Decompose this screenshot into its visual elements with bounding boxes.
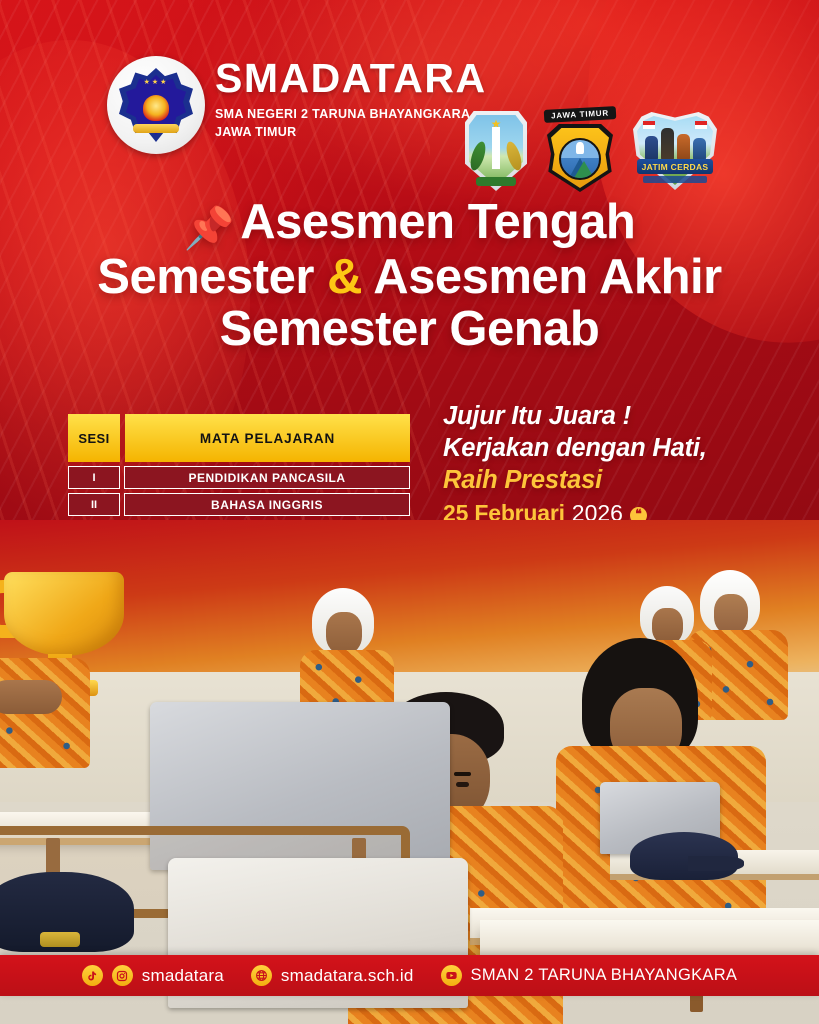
classroom-exam-photo [0, 520, 819, 1024]
youtube-channel-name[interactable]: SMAN 2 TARUNA BHAYANGKARA [471, 966, 738, 985]
column-header-mata-pelajaran: MATA PELAJARAN [125, 414, 410, 462]
cap-brim [688, 856, 744, 871]
motivation-block: Jujur Itu Juara ! Kerjakan dengan Hati, … [443, 400, 793, 527]
motivation-line-1: Jujur Itu Juara ! [443, 400, 793, 432]
row-sesi-value: I [68, 466, 120, 489]
column-header-sesi: SESI [68, 414, 120, 462]
title-line-3: Semester Genab [0, 303, 819, 355]
east-java-province-emblem: ★ [465, 111, 527, 191]
poster-title: 📌Asesmen Tengah Semester & Asesmen Akhir… [0, 196, 819, 356]
desk-bottom-right [480, 920, 819, 956]
website-url[interactable]: smadatara.sch.id [281, 966, 414, 986]
instagram-icon[interactable] [112, 965, 133, 986]
poster-canvas: ★★★ SMADATARA SMA NEGERI 2 TARUNA BHAYAN… [0, 0, 819, 1024]
title-line-2b: Asesmen Akhir [373, 250, 721, 304]
row-mapel-value: BAHASA INGGRIS [124, 493, 410, 516]
police-banner-label: JAWA TIMUR [544, 106, 617, 123]
brand-name: SMADATARA [215, 58, 487, 99]
title-line-1: Asesmen Tengah [240, 195, 635, 249]
brand-block: SMADATARA SMA NEGERI 2 TARUNA BHAYANGKAR… [215, 58, 487, 142]
schedule-table: SESI MATA PELAJARAN I PENDIDIKAN PANCASI… [68, 414, 410, 516]
row-mapel-value: PENDIDIKAN PANCASILA [124, 466, 410, 489]
youtube-icon[interactable] [441, 965, 462, 986]
jatim-cerdas-badge: JATIM CERDAS [633, 112, 717, 190]
brand-subtitle-line2: JAWA TIMUR [215, 124, 487, 142]
brand-subtitle-line1: SMA NEGERI 2 TARUNA BHAYANGKARA [215, 106, 487, 124]
motivation-line-2: Kerjakan dengan Hati, [443, 432, 793, 464]
social-handle[interactable]: smadatara [142, 966, 224, 986]
row-sesi-value: II [68, 493, 120, 516]
pushpin-icon: 📌 [184, 207, 235, 251]
government-logos: ★ JAWA TIMUR JATIM CER [465, 110, 717, 192]
title-line-2a: Semester [97, 250, 314, 304]
poster-header: ★★★ SMADATARA SMA NEGERI 2 TARUNA BHAYAN… [0, 52, 819, 160]
schedule-table-header: SESI MATA PELAJARAN [68, 414, 410, 462]
smadatara-school-emblem: ★★★ [107, 56, 205, 154]
cap-emblem [40, 932, 80, 947]
globe-icon[interactable] [251, 965, 272, 986]
motivation-line-3: Raih Prestasi [443, 464, 793, 497]
jawa-timur-police-shield: JAWA TIMUR [547, 110, 613, 192]
poster-footer: smadatara smadatara.sch.id SMAN 2 TARUNA… [0, 955, 819, 996]
table-row: I PENDIDIKAN PANCASILA [68, 466, 410, 489]
tiktok-icon[interactable] [82, 965, 103, 986]
jatim-cerdas-label: JATIM CERDAS [637, 159, 713, 174]
title-ampersand: & [327, 250, 362, 304]
table-row: II BAHASA INGGRIS [68, 493, 410, 516]
